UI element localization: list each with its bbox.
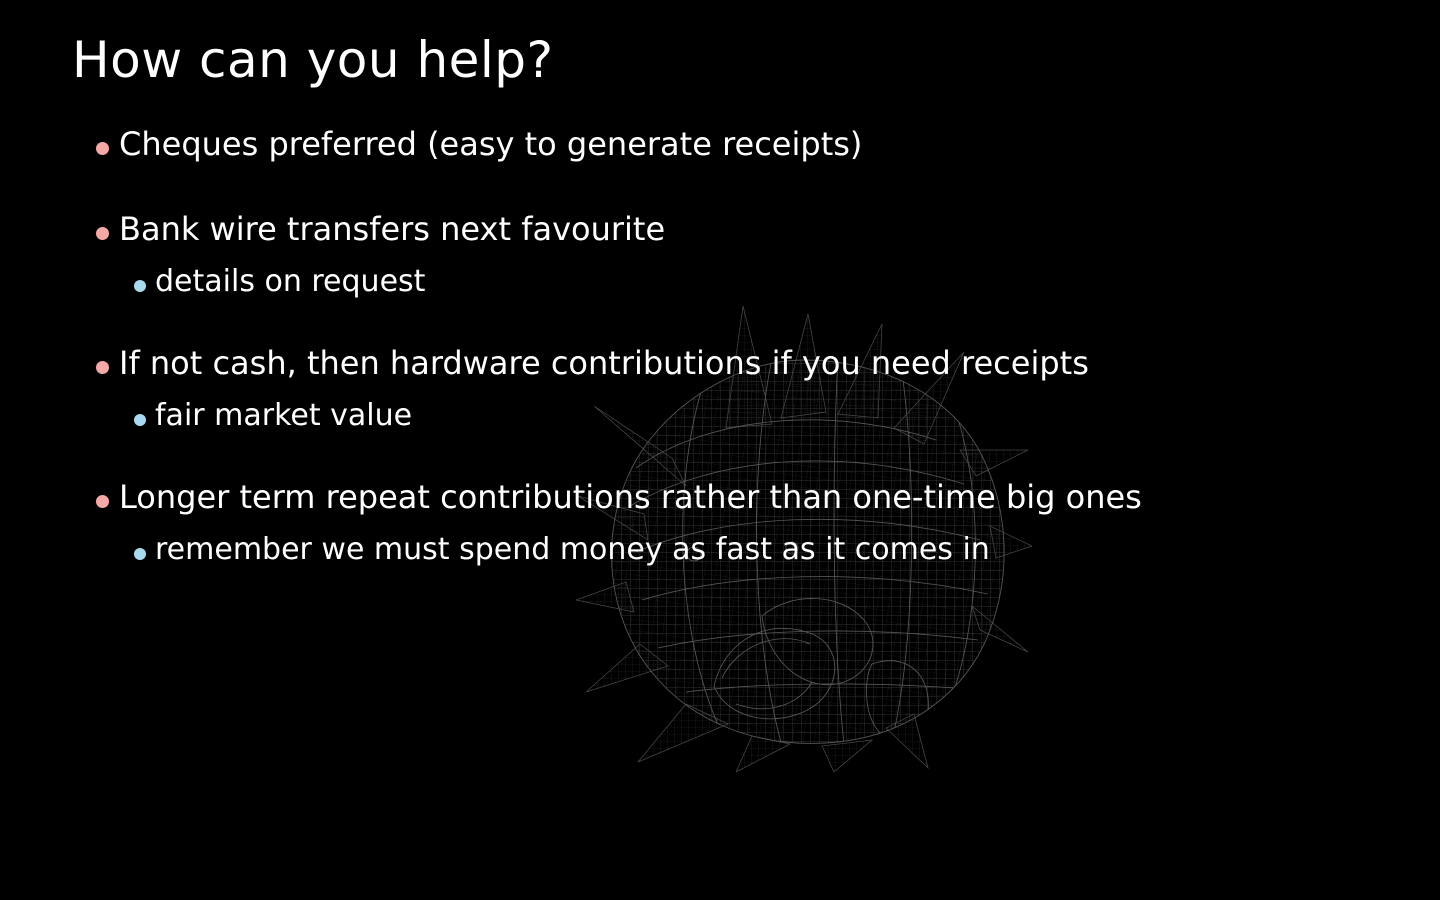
group-spacer — [0, 182, 1440, 213]
slide-title: How can you help? — [72, 33, 554, 88]
sub-list-item-label: fair market value — [155, 401, 412, 431]
sub-bullet-dot-icon — [134, 280, 146, 292]
list-item[interactable]: Bank wire transfers next favourite — [0, 213, 1440, 267]
list-item[interactable]: Cheques preferred (easy to generate rece… — [0, 128, 1440, 182]
list-item[interactable]: Longer term repeat contributions rather … — [0, 481, 1440, 535]
list-item-label: Cheques preferred (easy to generate rece… — [119, 128, 862, 160]
list-item[interactable]: If not cash, then hardware contributions… — [0, 347, 1440, 401]
sub-bullet-dot-icon — [134, 414, 146, 426]
bullet-group: Cheques preferred (easy to generate rece… — [0, 128, 1440, 182]
group-spacer — [0, 448, 1440, 481]
list-item-label: Longer term repeat contributions rather … — [119, 481, 1142, 513]
bullet-group: Bank wire transfers next favourite detai… — [0, 213, 1440, 314]
presentation-slide: How can you help? Cheques preferred (eas… — [0, 0, 1440, 900]
bullet-group: If not cash, then hardware contributions… — [0, 347, 1440, 448]
sub-list-item[interactable]: fair market value — [0, 401, 1440, 448]
bullet-group: Longer term repeat contributions rather … — [0, 481, 1440, 582]
bullet-list: Cheques preferred (easy to generate rece… — [0, 128, 1440, 582]
bullet-dot-icon — [96, 227, 109, 240]
sub-list-item[interactable]: remember we must spend money as fast as … — [0, 535, 1440, 582]
sub-bullet-dot-icon — [134, 548, 146, 560]
sub-list-item[interactable]: details on request — [0, 267, 1440, 314]
bullet-dot-icon — [96, 142, 109, 155]
bullet-dot-icon — [96, 495, 109, 508]
sub-list-item-label: details on request — [155, 267, 425, 297]
bullet-dot-icon — [96, 361, 109, 374]
sub-list-item-label: remember we must spend money as fast as … — [155, 535, 990, 565]
group-spacer — [0, 314, 1440, 347]
list-item-label: If not cash, then hardware contributions… — [119, 347, 1089, 379]
list-item-label: Bank wire transfers next favourite — [119, 213, 665, 245]
